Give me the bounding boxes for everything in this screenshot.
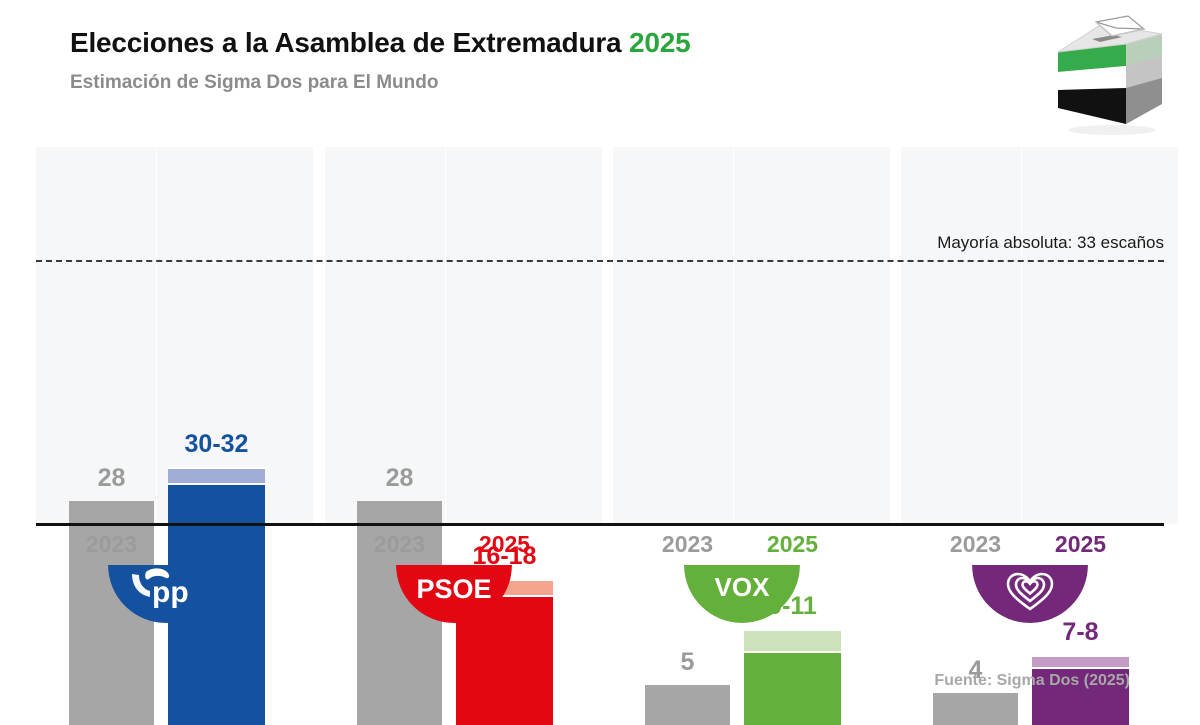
year-label-psoe-2023: 2023 <box>357 531 442 558</box>
bar-value-up-2025: 7-8 <box>1062 618 1098 647</box>
svg-text:pp: pp <box>152 576 189 609</box>
svg-text:VOX: VOX <box>715 572 771 602</box>
chart-baseline-axis <box>36 523 1164 526</box>
bar-pp-2025-range <box>168 467 265 485</box>
year-label-psoe-2025: 2025 <box>456 531 553 558</box>
bar-up-2025-range <box>1032 655 1129 669</box>
year-label-pp-2023: 2023 <box>69 531 154 558</box>
svg-text:PSOE: PSOE <box>416 574 491 604</box>
bar-value-psoe-2023: 28 <box>386 464 414 493</box>
panel-divider <box>156 147 157 524</box>
bar-value-vox-2023: 5 <box>681 648 695 677</box>
panel-divider <box>1021 147 1022 524</box>
bar-vox-2023 <box>645 685 730 725</box>
year-label-up-2025: 2025 <box>1032 531 1129 558</box>
panel-divider <box>445 147 446 524</box>
source-footer: Fuente: Sigma Dos (2025) <box>934 672 1130 690</box>
bar-up-2023 <box>933 693 1018 725</box>
bar-value-pp-2023: 28 <box>98 464 126 493</box>
chart-plot-area: Mayoría absoluta: 33 escaños 28 2023 30-… <box>0 0 1200 725</box>
bar-vox-2025-low <box>744 653 841 725</box>
bar-value-pp-2025: 30-32 <box>185 430 249 459</box>
panel-divider <box>733 147 734 524</box>
majority-reference-line <box>36 260 1164 262</box>
year-label-pp-2025: 2025 <box>168 531 265 558</box>
year-label-vox-2023: 2023 <box>645 531 730 558</box>
bar-vox-2025-range <box>744 629 841 653</box>
majority-line-label: Mayoría absoluta: 33 escaños <box>937 233 1164 253</box>
year-label-up-2023: 2023 <box>933 531 1018 558</box>
year-label-vox-2025: 2025 <box>744 531 841 558</box>
